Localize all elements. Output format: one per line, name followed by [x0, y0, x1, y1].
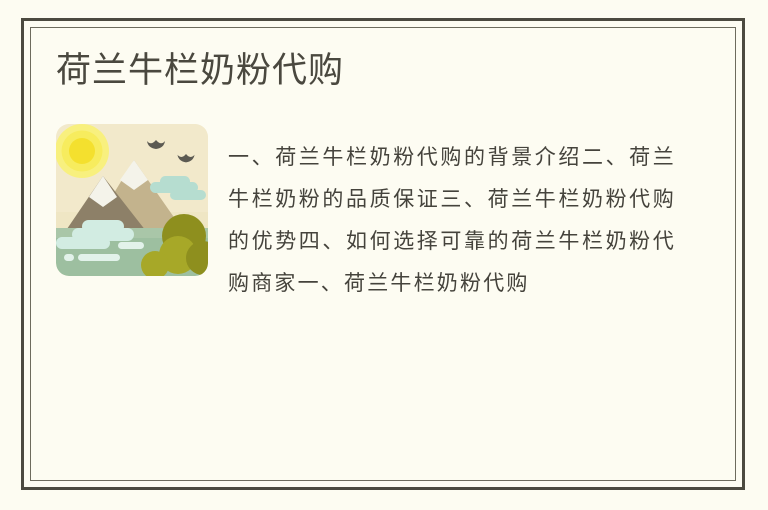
page-title: 荷兰牛栏奶粉代购 [56, 46, 676, 96]
article-page: 荷兰牛栏奶粉代购 [0, 0, 768, 510]
article-body-row: 一、荷兰牛栏奶粉代购的背景介绍二、荷兰牛栏奶粉的品质保证三、荷兰牛栏奶粉代购的优… [56, 124, 676, 304]
page-content: 荷兰牛栏奶粉代购 [56, 46, 676, 446]
landscape-mountain-sun-illustration [56, 124, 208, 276]
illustration-container [56, 124, 208, 276]
article-body-text: 一、荷兰牛栏奶粉代购的背景介绍二、荷兰牛栏奶粉的品质保证三、荷兰牛栏奶粉代购的优… [228, 124, 676, 304]
